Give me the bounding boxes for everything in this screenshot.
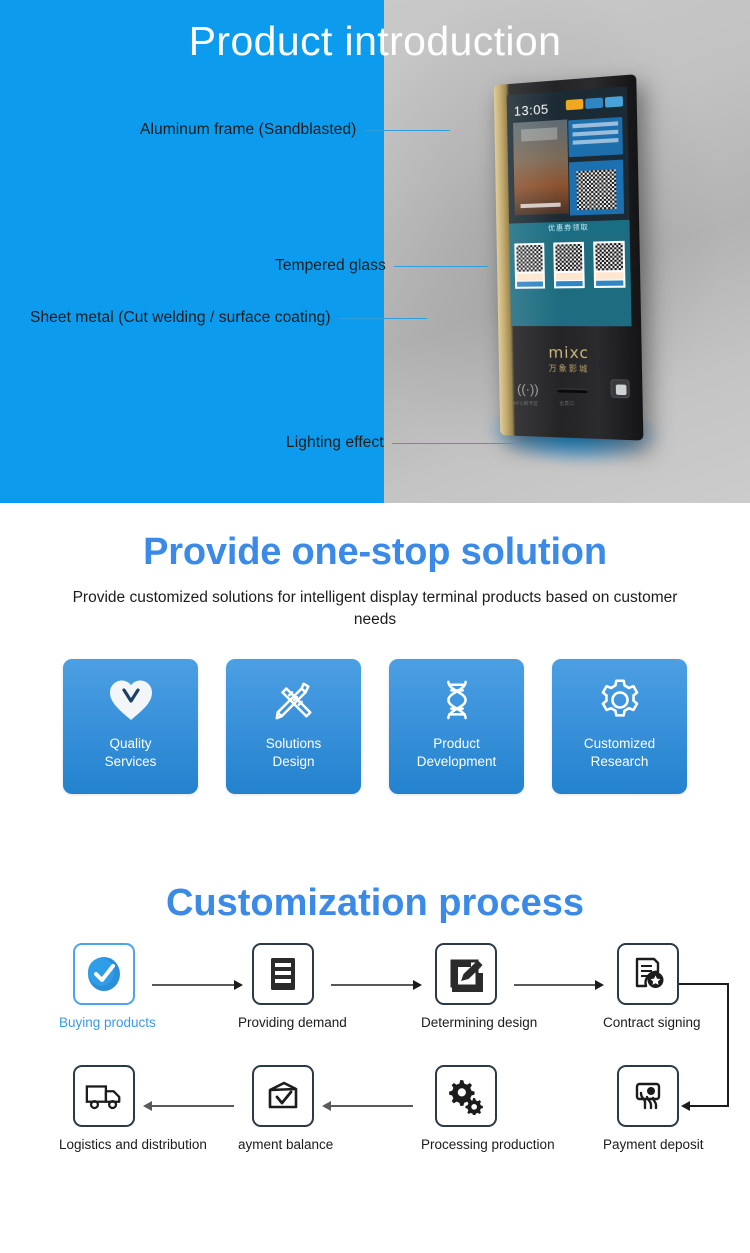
- step-label: Processing production: [421, 1137, 511, 1152]
- solution-card-customized-research[interactable]: Customized Research: [552, 659, 687, 794]
- callout-label: Aluminum frame (Sandblasted): [140, 121, 356, 139]
- brand-name: mixc: [499, 343, 642, 363]
- flow-arrow-2: [331, 984, 413, 986]
- kiosk-device: 13:05 优惠券领取: [494, 74, 644, 440]
- hero-blue-panel: [0, 0, 384, 503]
- screen-qr-panel: [569, 160, 624, 216]
- step-label: Payment deposit: [603, 1137, 693, 1152]
- hand-card-icon: [629, 1077, 667, 1115]
- dna-helix-icon: [436, 675, 478, 725]
- step-label: Contract signing: [603, 1015, 693, 1030]
- leader-line-icon: [364, 130, 450, 131]
- ticket-slot: [557, 388, 588, 393]
- step-box: [252, 1065, 314, 1127]
- connector-arrowhead: [681, 1101, 690, 1111]
- callout-sheet-metal: Sheet metal (Cut welding / surface coati…: [30, 309, 427, 327]
- screen-tag-row: [566, 96, 623, 110]
- ruler-pencil-icon: [271, 675, 317, 725]
- step-box: [73, 1065, 135, 1127]
- callout-lighting-effect: Lighting effect: [286, 434, 514, 452]
- flow-arrow-3: [514, 984, 595, 986]
- solution-card-list: Quality Services Solutions Desig: [0, 659, 750, 794]
- solution-card-quality-services[interactable]: Quality Services: [63, 659, 198, 794]
- process-step-payment-balance[interactable]: ayment balance: [238, 1065, 328, 1152]
- card-line-1: Solutions: [266, 736, 322, 751]
- step-box: [435, 1065, 497, 1127]
- solution-card-product-development[interactable]: Product Development: [389, 659, 524, 794]
- screen-tag-blue-1: [585, 97, 603, 109]
- flow-arrow-1: [152, 984, 234, 986]
- poster-caption-block: [521, 203, 561, 209]
- callout-aluminum-frame: Aluminum frame (Sandblasted): [140, 121, 450, 139]
- page-title: Product introduction: [0, 18, 750, 65]
- process-step-payment-deposit[interactable]: Payment deposit: [603, 1065, 693, 1152]
- card-line-1: Product: [433, 736, 480, 751]
- step-label: ayment balance: [238, 1137, 328, 1152]
- process-step-logistics-distribution[interactable]: Logistics and distribution: [59, 1065, 149, 1152]
- solution-subtitle: Provide customized solutions for intelli…: [0, 587, 750, 631]
- heart-check-icon: [108, 675, 154, 725]
- step-box: [435, 943, 497, 1005]
- step-box: [617, 1065, 679, 1127]
- process-flow-diagram: Buying products Providing demand: [0, 943, 750, 1213]
- coupon-card: [594, 241, 626, 288]
- gears-icon: [447, 1077, 485, 1115]
- truck-icon: [84, 1077, 124, 1115]
- card-line-1: Quality: [109, 736, 151, 751]
- step-label: Providing demand: [238, 1015, 328, 1030]
- product-introduction-section: Product introduction 13:05 优惠券领: [0, 0, 750, 503]
- document-list-icon: [264, 955, 302, 993]
- process-step-processing-production[interactable]: Processing production: [421, 1065, 511, 1152]
- envelope-check-icon: [264, 1077, 302, 1115]
- gear-icon: [597, 675, 643, 725]
- slot-caption: 出票口: [559, 401, 574, 408]
- step-box: [73, 943, 135, 1005]
- screen-tag-yellow: [566, 99, 584, 110]
- callout-label: Sheet metal (Cut welding / surface coati…: [30, 309, 331, 327]
- solution-card-label: Solutions Design: [266, 735, 322, 771]
- screen-coupon-row: [509, 233, 631, 326]
- card-line-2: Services: [105, 754, 157, 769]
- screen-tag-blue-2: [605, 96, 623, 108]
- callout-label: Tempered glass: [275, 257, 386, 275]
- scanner-window-icon: [610, 379, 629, 398]
- process-step-determining-design[interactable]: Determining design: [421, 943, 511, 1030]
- solution-card-label: Customized Research: [584, 735, 655, 771]
- screen-movie-poster: [513, 119, 569, 215]
- leader-line-icon: [392, 443, 514, 444]
- one-stop-solution-section: Provide one-stop solution Provide custom…: [0, 503, 750, 860]
- check-circle-icon: [84, 954, 124, 994]
- card-line-2: Design: [272, 754, 314, 769]
- leader-line-icon: [394, 266, 488, 267]
- flow-arrow-6: [152, 1105, 234, 1107]
- card-line-1: Customized: [584, 736, 655, 751]
- device-brand: mixc 万象影城: [499, 343, 643, 376]
- step-box: [252, 943, 314, 1005]
- nfc-caption: NFC刷卡区: [513, 400, 538, 407]
- device-screen: 13:05 优惠券领取: [507, 86, 632, 326]
- flow-arrow-5: [331, 1105, 413, 1107]
- callout-label: Lighting effect: [286, 434, 384, 452]
- solution-card-solutions-design[interactable]: Solutions Design: [226, 659, 361, 794]
- step-label: Logistics and distribution: [59, 1137, 149, 1152]
- leader-line-icon: [339, 318, 427, 319]
- device-frame: 13:05 优惠券领取: [494, 74, 644, 440]
- connector-bottom: [689, 1105, 729, 1107]
- brand-subtitle: 万象影城: [499, 362, 642, 376]
- poster-title-block: [521, 127, 557, 141]
- coupon-card: [514, 243, 545, 289]
- connector-top: [679, 983, 729, 985]
- process-step-providing-demand[interactable]: Providing demand: [238, 943, 328, 1030]
- step-label: Determining design: [421, 1015, 511, 1030]
- screen-clock: 13:05: [514, 101, 549, 119]
- step-box: [617, 943, 679, 1005]
- card-line-2: Development: [417, 754, 497, 769]
- process-heading: Customization process: [0, 860, 750, 925]
- process-step-contract-signing[interactable]: Contract signing: [603, 943, 693, 1030]
- callout-tempered-glass: Tempered glass: [275, 257, 488, 275]
- certificate-star-icon: [629, 955, 667, 993]
- customization-process-section: Customization process Buying products: [0, 860, 750, 1253]
- screen-info-panel: [568, 117, 623, 157]
- solution-card-label: Quality Services: [105, 735, 157, 771]
- connector-right: [727, 983, 729, 1107]
- coupon-card: [553, 242, 585, 289]
- step-label: Buying products: [59, 1015, 149, 1030]
- solution-card-label: Product Development: [417, 735, 497, 771]
- qr-code-icon: [576, 169, 616, 210]
- solution-heading: Provide one-stop solution: [0, 503, 750, 574]
- nfc-icon: ((·)): [517, 381, 539, 397]
- card-line-2: Research: [591, 754, 649, 769]
- process-step-buying-products[interactable]: Buying products: [59, 943, 149, 1030]
- edit-pencil-icon: [447, 955, 485, 993]
